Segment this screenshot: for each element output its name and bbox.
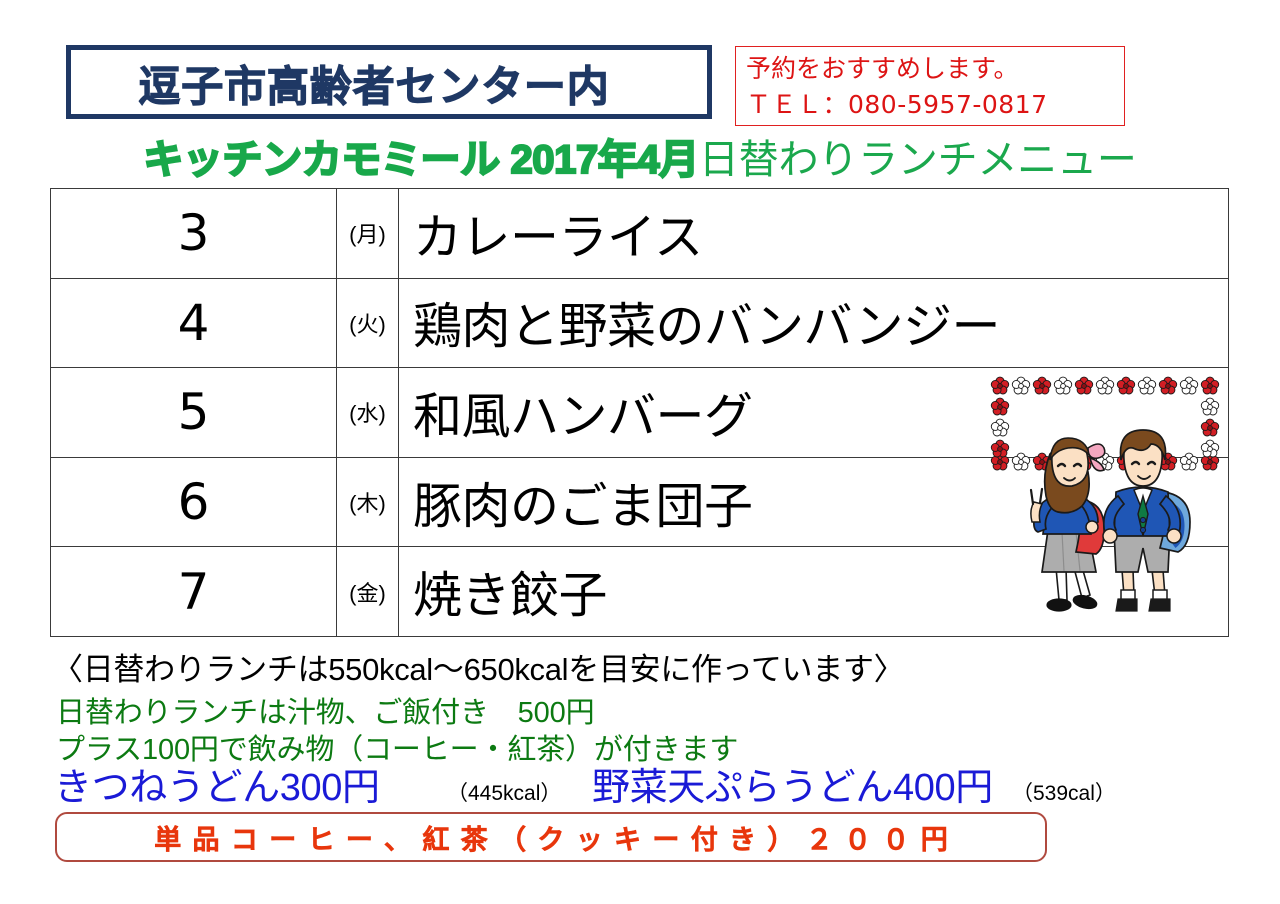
menu-item: カレーライス [399, 189, 1229, 279]
weekday: (火) [337, 278, 399, 368]
table-row: 3 (月) カレーライス [51, 189, 1229, 279]
weekday: (水) [337, 368, 399, 458]
menu-item: 焼き餃子 [399, 547, 1229, 637]
day-number: 7 [51, 547, 337, 637]
reservation-note: 予約をおすすめします。 [746, 51, 1124, 87]
menu-item: 鶏肉と野菜のバンバンジー [399, 278, 1229, 368]
venue-title: 逗子市高齢者センター内 [44, 50, 704, 116]
table-row: 7 (金) 焼き餃子 [51, 547, 1229, 637]
daily-lunch-menu-table: 3 (月) カレーライス 4 (火) 鶏肉と野菜のバンバンジー 5 (水) 和風… [50, 188, 1229, 637]
udon-item-name: 野菜天ぷらうどん400円 [592, 756, 993, 811]
weekday: (木) [337, 457, 399, 547]
udon-price-row: きつねうどん300円 （445kcal） 野菜天ぷらうどん400円 （539ca… [0, 756, 1280, 802]
udon-item-calories: （539cal） [1012, 777, 1116, 807]
table-row: 5 (水) 和風ハンバーグ [51, 368, 1229, 458]
menu-period: 2017年4月 [510, 127, 698, 185]
lunch-set-note: 日替わりランチは汁物、ご飯付き 500円 [56, 689, 595, 731]
coffee-offer-banner: 単品コーヒー、紅茶（クッキー付き）２００円 [55, 812, 1047, 862]
headline-gap [500, 134, 511, 179]
day-number: 4 [51, 278, 337, 368]
kcal-range-note: 〈日替わりランチは550kcal〜650kcalを目安に作っています〉 [52, 644, 904, 689]
shop-name: キッチンカモミール [143, 127, 499, 185]
day-number: 6 [51, 457, 337, 547]
weekday: (金) [337, 547, 399, 637]
udon-item-calories: （445kcal） [447, 777, 561, 807]
udon-item-name: きつねうどん300円 [54, 756, 380, 811]
reservation-phone: ＴＥＬ：080-5957-0817 [746, 87, 1124, 123]
coffee-offer-text: 単品コーヒー、紅茶（クッキー付き）２００円 [143, 818, 959, 857]
weekday: (月) [337, 189, 399, 279]
day-number: 3 [51, 189, 337, 279]
table-row: 6 (木) 豚肉のごま団子 [51, 457, 1229, 547]
table-row: 4 (火) 鶏肉と野菜のバンバンジー [51, 278, 1229, 368]
menu-subtitle: 日替わりランチメニュー [699, 127, 1137, 185]
reservation-info-box: 予約をおすすめします。 ＴＥＬ：080-5957-0817 [735, 46, 1125, 126]
menu-item: 豚肉のごま団子 [399, 457, 1229, 547]
day-number: 5 [51, 368, 337, 458]
menu-headline: キッチンカモミール 2017年4月 日替わりランチメニュー [0, 132, 1280, 180]
menu-item: 和風ハンバーグ [399, 368, 1229, 458]
header: 逗子市高齢者センター内 予約をおすすめします。 ＴＥＬ：080-5957-081… [0, 0, 1280, 130]
